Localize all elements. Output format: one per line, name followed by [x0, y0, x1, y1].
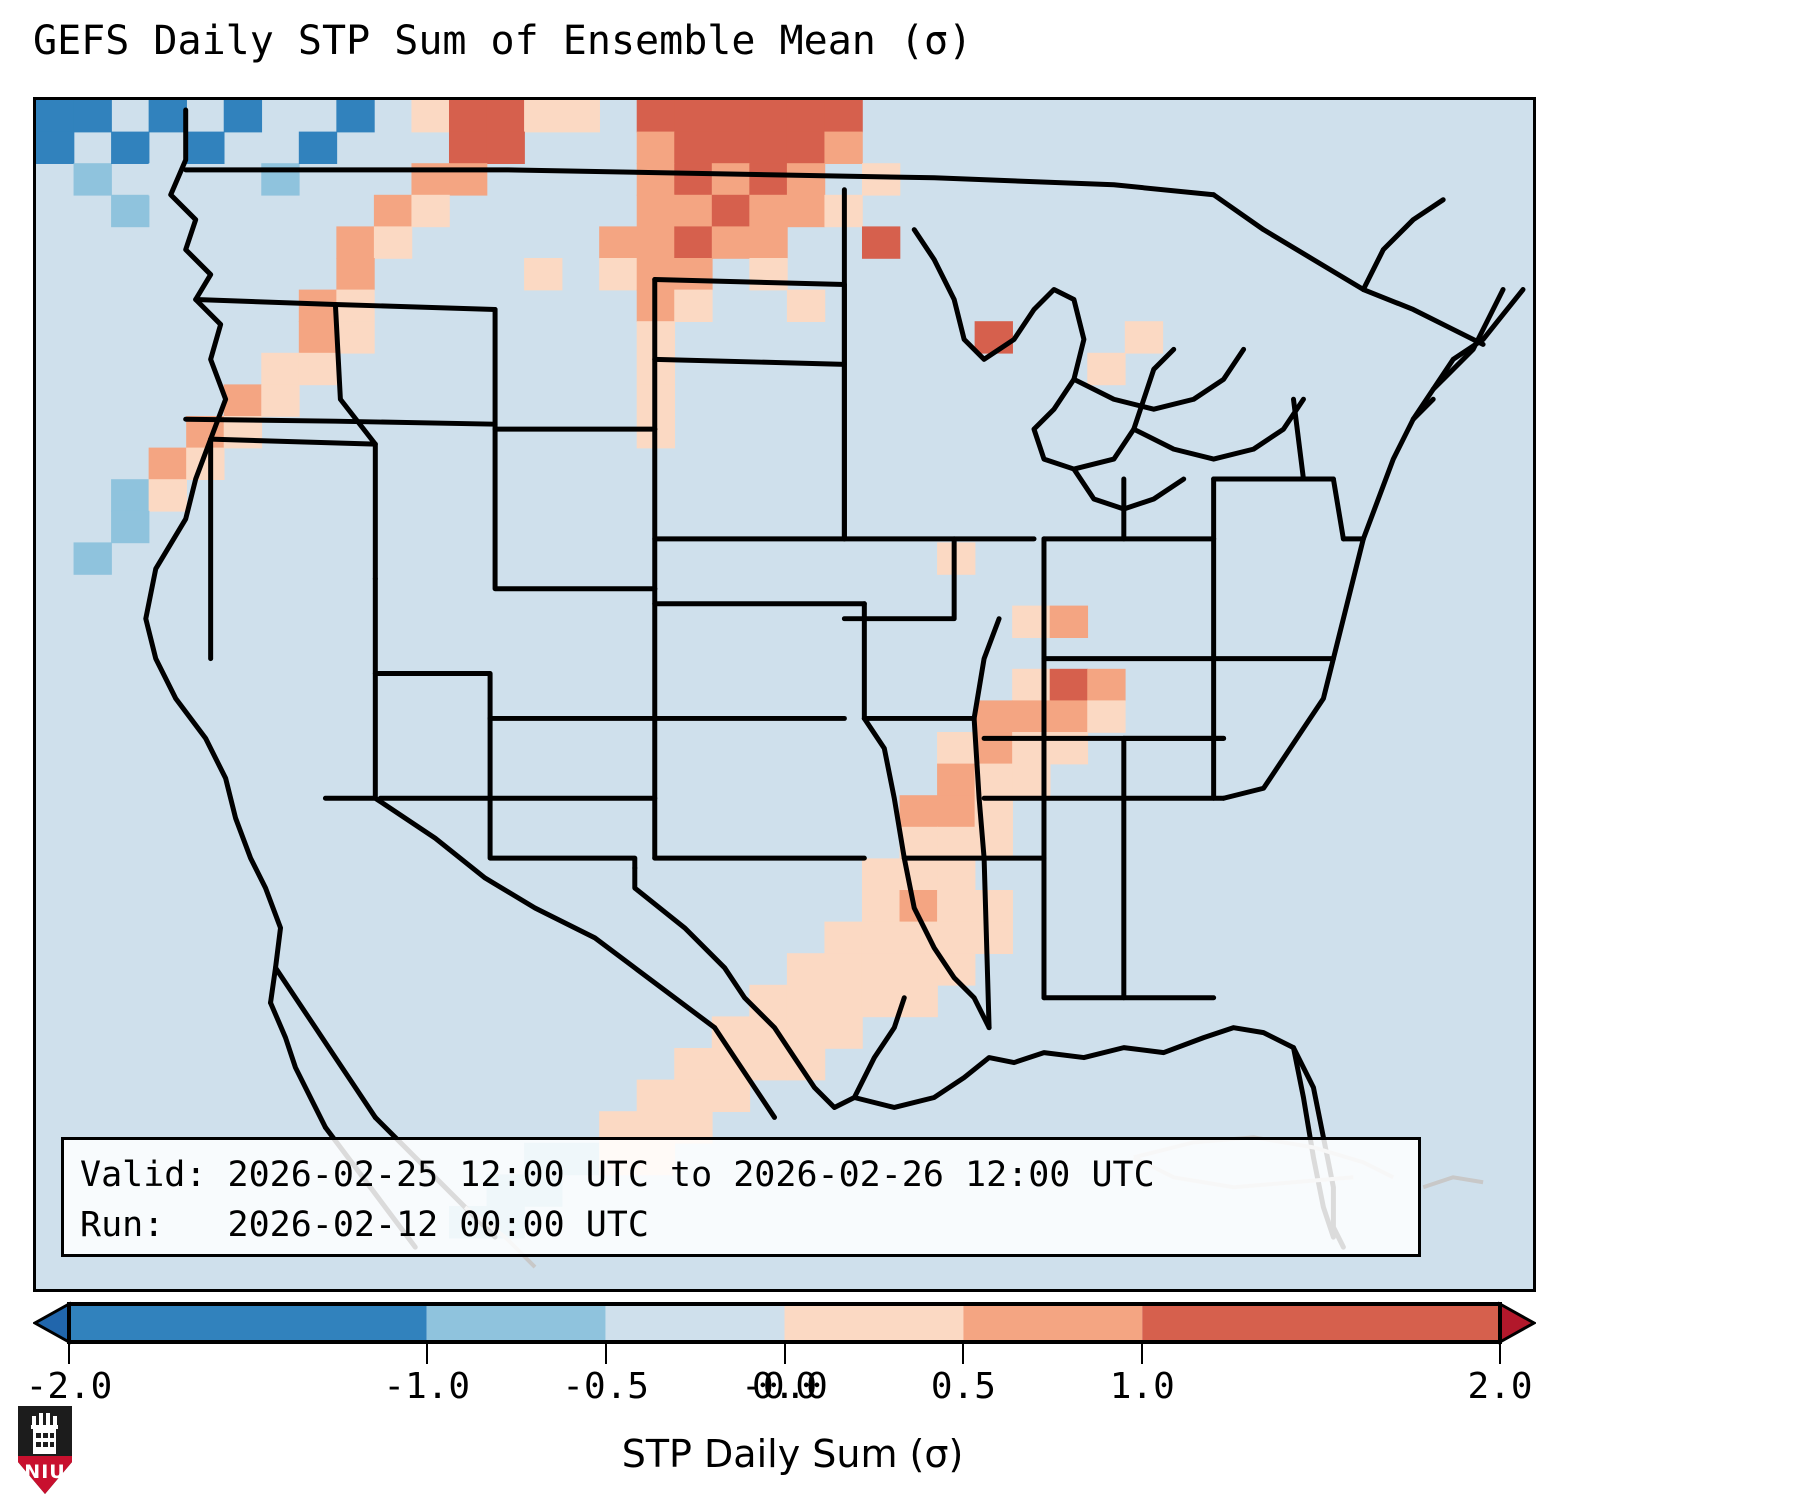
heatmap-cell — [224, 384, 262, 416]
heatmap-cell — [824, 953, 862, 985]
heatmap-cell — [787, 985, 825, 1017]
heatmap-cell — [712, 132, 750, 164]
heatmap-cell — [749, 132, 787, 164]
heatmap-cell — [749, 1048, 787, 1080]
heatmap-cell — [712, 195, 750, 227]
heatmap-cell — [149, 448, 187, 480]
heatmap-cell — [562, 100, 600, 132]
heatmap-cell — [862, 890, 900, 922]
map-canvas — [36, 100, 1533, 1289]
heatmap-cell — [674, 100, 712, 132]
heatmap-cell — [336, 321, 374, 353]
heatmap-cell — [787, 132, 825, 164]
heatmap-cell — [712, 226, 750, 258]
heatmap-cell — [824, 1016, 862, 1048]
colorbar-tick — [1499, 1344, 1501, 1364]
heatmap-cell — [749, 226, 787, 258]
heatmap-cell — [637, 163, 675, 195]
colorbar-axis-label: STP Daily Sum (σ) — [0, 1432, 1585, 1476]
colorbar-tick — [605, 1344, 607, 1364]
heatmap-cell — [111, 511, 149, 543]
heatmap-cell — [74, 100, 112, 132]
heatmap-cell — [749, 258, 787, 290]
heatmap-cell — [1050, 606, 1088, 638]
heatmap-cell — [749, 100, 787, 132]
heatmap-cell — [186, 132, 224, 164]
colorbar-tick-group: -2.0-1.0-0.5-0.00.00.51.02.0 — [33, 1344, 1536, 1414]
heatmap-cell — [299, 353, 337, 385]
heatmap-cell — [749, 195, 787, 227]
heatmap-cell — [749, 985, 787, 1017]
heatmap-cell — [862, 922, 900, 954]
heatmap-cell — [674, 226, 712, 258]
colorbar-tick — [68, 1344, 70, 1364]
heatmap-cell — [1050, 700, 1088, 732]
heatmap-cell — [862, 985, 900, 1017]
heatmap-cell — [36, 132, 74, 164]
heatmap-cell — [1050, 669, 1088, 701]
colorbar-segment — [606, 1304, 785, 1342]
heatmap-cell — [374, 195, 412, 227]
heatmap-cell — [487, 100, 525, 132]
colorbar-tick-label: -0.5 — [562, 1366, 649, 1407]
heatmap-cell — [299, 132, 337, 164]
heatmap-cell — [937, 764, 975, 796]
heatmap-cell — [336, 100, 374, 132]
heatmap-cell — [149, 479, 187, 511]
heatmap-cell — [111, 479, 149, 511]
heatmap-cell — [787, 163, 825, 195]
page-title: GEFS Daily STP Sum of Ensemble Mean (σ) — [33, 18, 972, 64]
heatmap-cell — [900, 953, 938, 985]
niu-logo: NIU — [14, 1404, 76, 1496]
colorbar-extend-max — [1500, 1304, 1534, 1342]
niu-logo-text: NIU — [24, 1461, 65, 1483]
colorbar-segment — [785, 1304, 964, 1342]
heatmap-cell — [1125, 321, 1163, 353]
heatmap-cell — [261, 384, 299, 416]
heatmap-cell — [937, 827, 975, 859]
heatmap-cell — [862, 858, 900, 890]
heatmap-cell — [937, 858, 975, 890]
heatmap-cell — [937, 922, 975, 954]
heatmap-cell — [487, 132, 525, 164]
heatmap-cell — [411, 195, 449, 227]
heatmap-cell — [674, 195, 712, 227]
heatmap-cell — [599, 226, 637, 258]
heatmap-cell — [975, 922, 1013, 954]
heatmap-cell — [336, 258, 374, 290]
valid-run-info-box: Valid: 2026-02-25 12:00 UTC to 2026-02-2… — [61, 1137, 1421, 1257]
heatmap-cell — [524, 100, 562, 132]
colorbar-extend-min — [35, 1304, 69, 1342]
colorbar-tick-label: 1.0 — [1110, 1366, 1175, 1407]
heatmap-cell — [374, 226, 412, 258]
heatmap-cell — [674, 1048, 712, 1080]
heatmap-cell — [74, 542, 112, 574]
colorbar-tick-label: -1.0 — [383, 1366, 470, 1407]
heatmap-cell — [637, 195, 675, 227]
heatmap-cell — [787, 100, 825, 132]
heatmap-cell — [674, 290, 712, 322]
heatmap-cell — [411, 100, 449, 132]
heatmap-cell — [637, 132, 675, 164]
colorbar-tick-label: -2.0 — [26, 1366, 113, 1407]
colorbar-segment — [1142, 1304, 1500, 1342]
colorbar-tick-label: 0.5 — [931, 1366, 996, 1407]
colorbar-tick — [962, 1344, 964, 1364]
colorbar-swatches — [33, 1300, 1536, 1346]
heatmap-cell — [937, 890, 975, 922]
heatmap-cell — [1087, 700, 1125, 732]
heatmap-cell — [336, 226, 374, 258]
heatmap-cell — [975, 321, 1013, 353]
colorbar-tick-label: 2.0 — [1467, 1366, 1532, 1407]
colorbar-tick — [426, 1344, 428, 1364]
colorbar-tick — [784, 1344, 786, 1364]
heatmap-cell — [749, 163, 787, 195]
heatmap-cell — [824, 985, 862, 1017]
heatmap-cell — [787, 290, 825, 322]
heatmap-cell — [824, 922, 862, 954]
heatmap-cell — [937, 732, 975, 764]
heatmap-cell — [637, 100, 675, 132]
valid-time-text: Valid: 2026-02-25 12:00 UTC to 2026-02-2… — [80, 1150, 1404, 1200]
heatmap-cell — [449, 132, 487, 164]
heatmap-cell — [712, 1080, 750, 1112]
heatmap-cell — [787, 195, 825, 227]
heatmap-cell — [787, 953, 825, 985]
heatmap-cell — [36, 100, 74, 132]
heatmap-cell — [824, 132, 862, 164]
heatmap-cell — [111, 195, 149, 227]
heatmap-cell — [975, 890, 1013, 922]
heatmap-cell — [862, 953, 900, 985]
heatmap-cell — [637, 226, 675, 258]
colorbar-tick-label: 0.0 — [752, 1366, 817, 1407]
heatmap-cell — [637, 1080, 675, 1112]
colorbar[interactable] — [33, 1300, 1536, 1346]
heatmap-cell — [599, 258, 637, 290]
heatmap-cell — [299, 321, 337, 353]
heatmap-cell — [261, 353, 299, 385]
heatmap-cell — [975, 700, 1013, 732]
colorbar-segment — [963, 1304, 1142, 1342]
run-time-text: Run: 2026-02-12 00:00 UTC — [80, 1200, 1404, 1250]
heatmap-cell — [674, 163, 712, 195]
heatmap-cell — [111, 132, 149, 164]
heatmap-cell — [449, 100, 487, 132]
heatmap-cell — [900, 795, 938, 827]
heatmap-cell — [674, 258, 712, 290]
heatmap-cell — [224, 100, 262, 132]
heatmap-cell — [712, 163, 750, 195]
heatmap-cell — [1087, 353, 1125, 385]
heatmap-cell — [674, 132, 712, 164]
colorbar-segment — [427, 1304, 606, 1342]
colorbar-segment — [69, 1304, 427, 1342]
heatmap-cell — [862, 226, 900, 258]
colorbar-tick — [1141, 1344, 1143, 1364]
heatmap-cell — [74, 163, 112, 195]
heatmap-cell — [824, 100, 862, 132]
map-plot-area — [33, 97, 1536, 1292]
heatmap-cell — [712, 100, 750, 132]
heatmap-cell — [787, 1016, 825, 1048]
heatmap-cell — [937, 795, 975, 827]
heatmap-cell — [524, 258, 562, 290]
heatmap-cell — [1087, 669, 1125, 701]
heatmap-cell — [149, 100, 187, 132]
heatmap-cell — [674, 1080, 712, 1112]
